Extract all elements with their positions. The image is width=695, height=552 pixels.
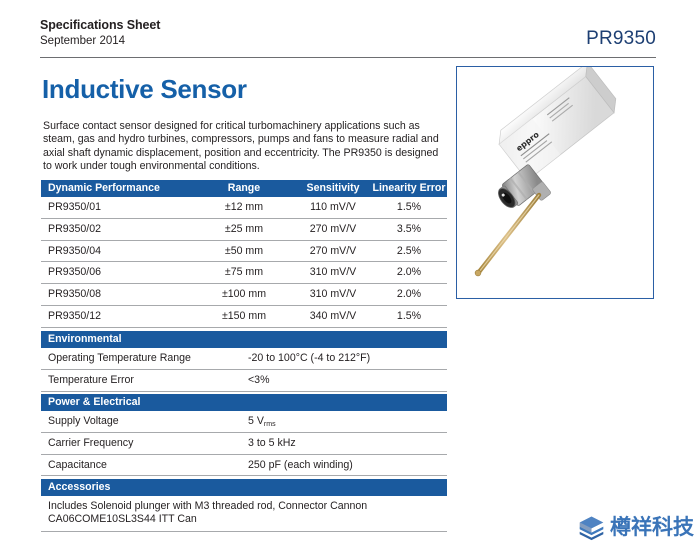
cell-value: <3% <box>248 370 270 392</box>
cell-linearity: 2.0% <box>371 262 447 284</box>
spec-sheet-date: September 2014 <box>40 34 160 49</box>
cell-model: PR9350/12 <box>48 306 101 328</box>
cell-sensitivity: 110 mV/V <box>287 197 379 219</box>
cell-sensitivity: 270 mV/V <box>287 219 379 241</box>
inductive-sensor-photo: eppro <box>457 67 652 297</box>
document-header: Specifications Sheet September 2014 PR93… <box>40 18 656 58</box>
cell-range: ±100 mm <box>201 284 287 306</box>
cell-value: 250 pF (each winding) <box>248 455 353 477</box>
cell-value-subscript: rms <box>264 421 276 428</box>
cell-sensitivity: 310 mV/V <box>287 284 379 306</box>
cell-label: Capacitance <box>48 455 107 477</box>
section-heading-accessories: Accessories <box>48 479 110 496</box>
product-description: Surface contact sensor designed for crit… <box>43 120 439 174</box>
table-row: Temperature Error <3% <box>41 370 447 392</box>
table-row: PR9350/02 ±25 mm 270 mV/V 3.5% <box>41 219 447 241</box>
dynamic-performance-table: Dynamic Performance Range Sensitivity Li… <box>41 180 447 328</box>
table-row: PR9350/04 ±50 mm 270 mV/V 2.5% <box>41 241 447 263</box>
table-row: Carrier Frequency 3 to 5 kHz <box>41 433 447 455</box>
cell-linearity: 2.0% <box>371 284 447 306</box>
cell-model: PR9350/04 <box>48 241 101 263</box>
accessories-header-row: Accessories <box>41 479 447 496</box>
page-title: Inductive Sensor <box>42 74 247 105</box>
product-code: PR9350 <box>586 28 656 50</box>
dynamic-performance-header-row: Dynamic Performance Range Sensitivity Li… <box>41 180 447 197</box>
table-row: PR9350/12 ±150 mm 340 mV/V 1.5% <box>41 306 447 328</box>
environmental-table: Environmental Operating Temperature Rang… <box>41 331 447 392</box>
table-row: Supply Voltage 5 Vrms <box>41 411 447 433</box>
cell-model: PR9350/02 <box>48 219 101 241</box>
col-header-linearity-error: Linearity Error <box>371 180 447 197</box>
cell-range: ±150 mm <box>201 306 287 328</box>
cell-range: ±50 mm <box>201 241 287 263</box>
cell-value: 3 to 5 kHz <box>248 433 296 455</box>
accessories-text: Includes Solenoid plunger with M3 thread… <box>41 496 447 532</box>
cell-value: -20 to 100°C (-4 to 212°F) <box>248 348 370 370</box>
footer-logo: 樽祥科技 <box>578 510 694 544</box>
cell-range: ±25 mm <box>201 219 287 241</box>
cell-model: PR9350/01 <box>48 197 101 219</box>
footer-logo-text: 樽祥科技 <box>610 514 694 541</box>
table-row: PR9350/01 ±12 mm 110 mV/V 1.5% <box>41 197 447 219</box>
specification-sheet-page: Specifications Sheet September 2014 PR93… <box>0 0 695 552</box>
document-header-left: Specifications Sheet September 2014 <box>40 18 160 49</box>
table-row: PR9350/08 ±100 mm 310 mV/V 2.0% <box>41 284 447 306</box>
power-electrical-table: Power & Electrical Supply Voltage 5 Vrms… <box>41 394 447 476</box>
cell-label: Carrier Frequency <box>48 433 133 455</box>
header-divider <box>40 57 656 58</box>
cell-value: 5 Vrms <box>248 411 276 434</box>
cell-label: Operating Temperature Range <box>48 348 191 370</box>
cell-linearity: 1.5% <box>371 197 447 219</box>
cell-model: PR9350/06 <box>48 262 101 284</box>
cell-range: ±12 mm <box>201 197 287 219</box>
section-heading-power-electrical: Power & Electrical <box>48 394 140 411</box>
power-electrical-header-row: Power & Electrical <box>41 394 447 411</box>
spec-sheet-title: Specifications Sheet <box>40 18 160 33</box>
cell-label: Temperature Error <box>48 370 134 392</box>
cell-sensitivity: 310 mV/V <box>287 262 379 284</box>
table-row: Capacitance 250 pF (each winding) <box>41 455 447 477</box>
cell-model: PR9350/08 <box>48 284 101 306</box>
cell-sensitivity: 270 mV/V <box>287 241 379 263</box>
cell-range: ±75 mm <box>201 262 287 284</box>
table-row: PR9350/06 ±75 mm 310 mV/V 2.0% <box>41 262 447 284</box>
product-image-panel: eppro <box>456 66 654 299</box>
environmental-header-row: Environmental <box>41 331 447 348</box>
col-header-range: Range <box>201 180 287 197</box>
col-header-dynamic-performance: Dynamic Performance <box>48 180 160 197</box>
stacked-layers-icon <box>578 514 605 541</box>
cell-linearity: 2.5% <box>371 241 447 263</box>
cell-sensitivity: 340 mV/V <box>287 306 379 328</box>
table-row: Operating Temperature Range -20 to 100°C… <box>41 348 447 370</box>
section-heading-environmental: Environmental <box>48 331 122 348</box>
cell-linearity: 3.5% <box>371 219 447 241</box>
cell-label: Supply Voltage <box>48 411 119 433</box>
col-header-sensitivity: Sensitivity <box>287 180 379 197</box>
cell-linearity: 1.5% <box>371 306 447 328</box>
cell-value-text: 5 V <box>248 415 264 427</box>
accessories-table: Accessories Includes Solenoid plunger wi… <box>41 479 447 532</box>
